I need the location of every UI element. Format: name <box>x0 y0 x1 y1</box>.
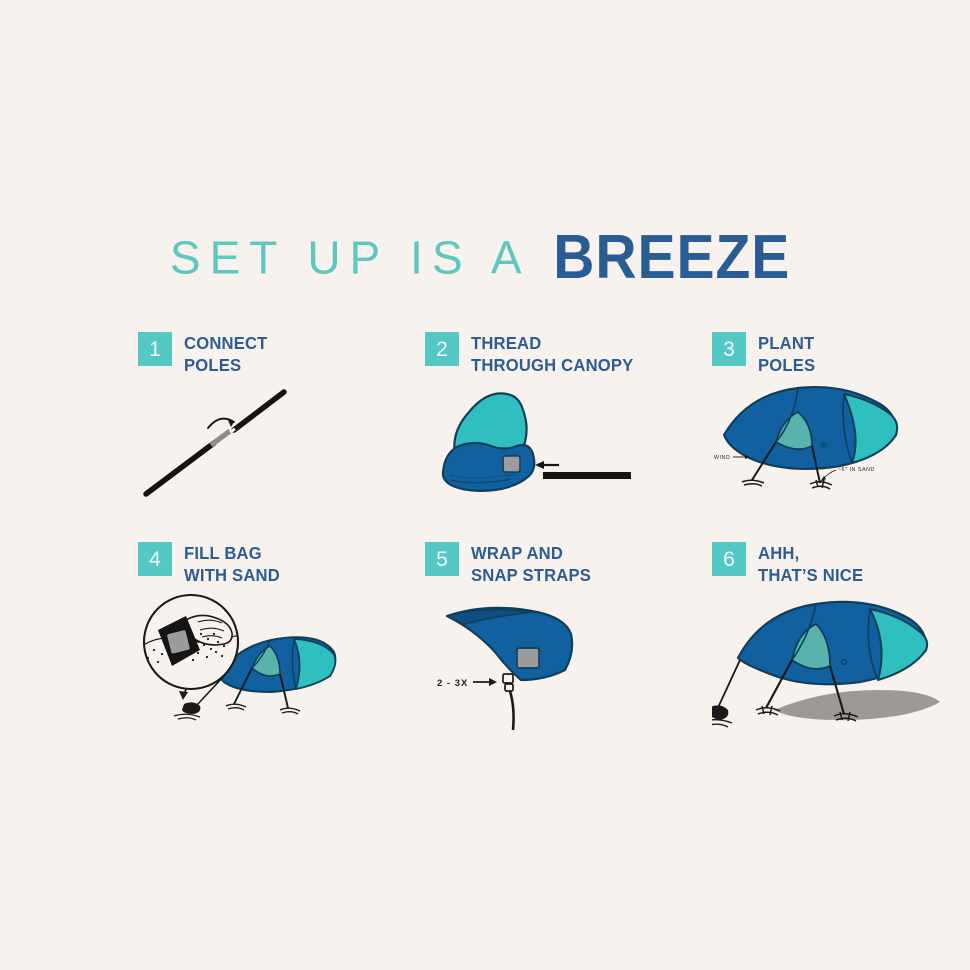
step-1-header: 1 CONNECT POLES <box>138 332 425 377</box>
step-4-label: FILL BAG WITH SAND <box>184 542 280 587</box>
step-2-label: THREAD THROUGH CANOPY <box>471 332 633 377</box>
thread-through-canopy-illustration <box>425 380 635 515</box>
step-6-badge: 6 <box>712 542 746 576</box>
connect-poles-illustration <box>138 380 338 515</box>
page-title: SET UP IS ABREEZE <box>0 222 970 293</box>
step-4: 4 FILL BAG WITH SAND <box>138 542 425 752</box>
wrap-count-annotation-text: 2 - 3X <box>437 678 468 689</box>
step-4-badge: 4 <box>138 542 172 576</box>
step-6-label: AHH, THAT’S NICE <box>758 542 863 587</box>
sand-depth-annotation-text: ~6" IN SAND <box>838 467 875 473</box>
step-5-badge: 5 <box>425 542 459 576</box>
step-5-header: 5 WRAP AND SNAP STRAPS <box>425 542 712 587</box>
step-6: 6 AHH, THAT’S NICE <box>712 542 970 752</box>
step-1-label: CONNECT POLES <box>184 332 268 377</box>
step-3-badge: 3 <box>712 332 746 366</box>
wrap-and-snap-straps-illustration: 2 - 3X <box>425 590 635 745</box>
step-1-badge: 1 <box>138 332 172 366</box>
step-5-label: WRAP AND SNAP STRAPS <box>471 542 591 587</box>
step-4-header: 4 FILL BAG WITH SAND <box>138 542 425 587</box>
title-bold-part: BREEZE <box>553 222 790 293</box>
step-3-label: PLANT POLES <box>758 332 815 377</box>
step-3-header: 3 PLANT POLES <box>712 332 970 377</box>
step-6-header: 6 AHH, THAT’S NICE <box>712 542 970 587</box>
step-2: 2 THREAD THROUGH CANOPY <box>425 332 712 542</box>
step-1: 1 CONNECT POLES <box>138 332 425 542</box>
steps-grid: 1 CONNECT POLES <box>0 332 970 752</box>
step-3: 3 PLANT POLES <box>712 332 970 542</box>
setup-instructions-page: SET UP IS ABREEZE 1 CONNECT POLES <box>0 0 970 970</box>
step-5: 5 WRAP AND SNAP STRAPS 2 - <box>425 542 712 752</box>
wind-annotation-text: WIND <box>714 455 730 461</box>
finished-canopy-illustration <box>712 590 952 745</box>
plant-poles-illustration: WIND ~6" IN SAND <box>712 380 922 515</box>
step-2-header: 2 THREAD THROUGH CANOPY <box>425 332 712 377</box>
fill-bag-with-sand-illustration <box>138 590 358 745</box>
title-light-part: SET UP IS A <box>170 232 531 284</box>
step-2-badge: 2 <box>425 332 459 366</box>
